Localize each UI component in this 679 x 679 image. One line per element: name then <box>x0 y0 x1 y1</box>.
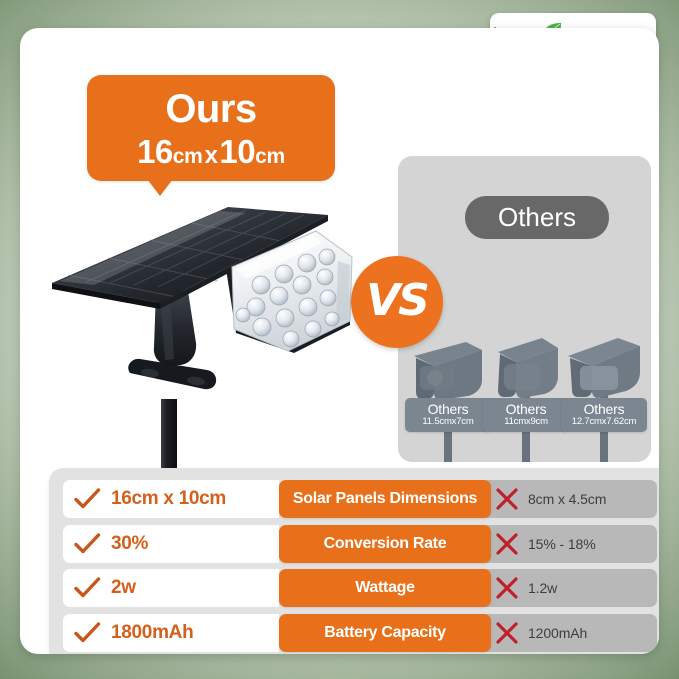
others-cell: 15% - 18% <box>485 525 657 563</box>
others-value: 1200mAh <box>528 625 587 641</box>
other-unit-2: Others 11cmx9cm <box>486 326 566 462</box>
comparison-infographic: INGLILIGHTING <box>0 0 679 679</box>
others-badge-label: Others <box>498 202 576 233</box>
check-icon <box>74 488 101 510</box>
other-tag-3-name: Others <box>584 402 625 417</box>
other-tag-2: Others 11cmx9cm <box>483 398 569 432</box>
others-badge: Others <box>465 196 609 239</box>
table-row: 1800mAh Battery Capacity 1200mAh <box>63 614 657 652</box>
others-value: 1.2w <box>528 580 557 596</box>
other-unit-3: Others 12.7cmx7.62cm <box>564 326 644 462</box>
solar-spotlight-icon <box>50 203 360 483</box>
others-cell: 1200mAh <box>485 614 657 652</box>
cross-icon <box>495 622 519 644</box>
other-tag-3-size: 12.7cmx7.62cm <box>572 417 636 427</box>
ours-badge: Ours 16cmx10cm <box>87 75 335 181</box>
feature-text: Wattage <box>355 579 415 597</box>
check-icon <box>74 622 101 644</box>
ours-dimensions: 16cmx10cm <box>137 135 285 168</box>
ours-value: 2w <box>111 577 136 599</box>
feature-label: Conversion Rate <box>279 525 491 563</box>
other-unit-1: Others 11.5cmx7cm <box>408 326 488 462</box>
table-row: 2w Wattage 1.2w <box>63 569 657 607</box>
cross-icon <box>495 533 519 555</box>
check-icon <box>74 577 101 599</box>
ours-title: Ours <box>165 89 256 129</box>
feature-label: Battery Capacity <box>279 614 491 652</box>
vs-badge: VS <box>351 256 443 348</box>
ours-cell: 30% <box>63 525 279 563</box>
ours-cell: 2w <box>63 569 279 607</box>
ours-dim-num-1: 16 <box>137 133 173 170</box>
ours-value: 1800mAh <box>111 622 193 644</box>
other-tag-2-name: Others <box>506 402 547 417</box>
table-row: 16cm x 10cm Solar Panels Dimensions 8cm … <box>63 480 657 518</box>
vs-label: VS <box>366 279 428 323</box>
other-tag-1-size: 11.5cmx7cm <box>422 417 473 427</box>
ours-dim-unit-1: cm <box>173 145 203 168</box>
other-tag-2-size: 11cmx9cm <box>504 417 548 427</box>
feature-text: Battery Capacity <box>324 624 445 642</box>
feature-text: Solar Panels Dimensions <box>293 490 477 508</box>
ours-dim-num-2: 10 <box>219 133 255 170</box>
others-cell: 1.2w <box>485 569 657 607</box>
cross-icon <box>495 488 519 510</box>
other-tag-1: Others 11.5cmx7cm <box>405 398 491 432</box>
main-content-card: Ours 16cmx10cm Others Others <box>20 28 659 654</box>
ours-value: 30% <box>111 533 148 555</box>
ours-value: 16cm x 10cm <box>111 488 226 510</box>
feature-label: Solar Panels Dimensions <box>279 480 491 518</box>
ours-dim-unit-2: cm <box>255 145 285 168</box>
other-tag-3: Others 12.7cmx7.62cm <box>561 398 647 432</box>
others-value: 15% - 18% <box>528 536 596 552</box>
feature-text: Conversion Rate <box>324 535 447 553</box>
ours-dim-separator: x <box>203 142 220 169</box>
others-cell: 8cm x 4.5cm <box>485 480 657 518</box>
ours-cell: 16cm x 10cm <box>63 480 279 518</box>
comparison-table: 16cm x 10cm Solar Panels Dimensions 8cm … <box>49 468 659 654</box>
table-row: 30% Conversion Rate 15% - 18% <box>63 525 657 563</box>
feature-label: Wattage <box>279 569 491 607</box>
others-value: 8cm x 4.5cm <box>528 491 606 507</box>
ours-cell: 1800mAh <box>63 614 279 652</box>
cross-icon <box>495 577 519 599</box>
check-icon <box>74 533 101 555</box>
other-tag-1-name: Others <box>428 402 469 417</box>
